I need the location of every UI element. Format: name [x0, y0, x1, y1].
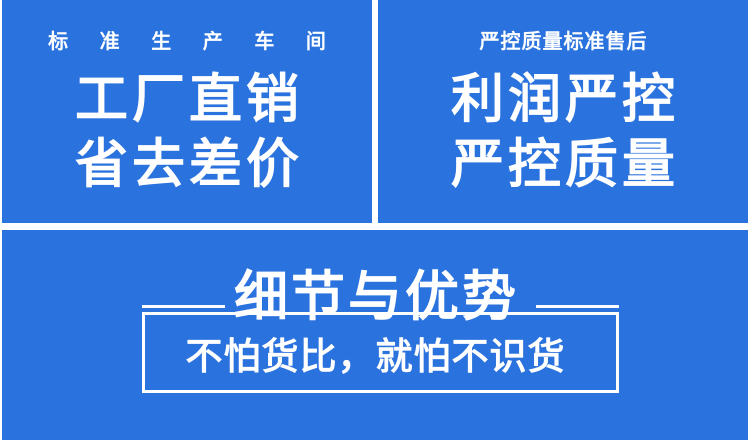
- factory-direct-eyebrow: 标 准 生 产 车 间: [35, 32, 339, 52]
- details-title: 细节与优势: [2, 270, 748, 324]
- quality-control-headline-line1: 利润严控: [447, 70, 679, 129]
- panel-quality-control: 严控质量标准售后 利润严控 严控质量: [378, 0, 748, 223]
- panel-details-advantages-content: 细节与优势 不怕货比，就怕不识货: [2, 230, 748, 440]
- promo-banner: 标 准 生 产 车 间 工厂直销 省去差价 严控质量标准售后 利润严控 严控质量…: [0, 0, 750, 440]
- panel-factory-direct-content: 标 准 生 产 车 间 工厂直销 省去差价: [2, 0, 372, 223]
- factory-direct-headline-line2: 省去差价: [71, 135, 303, 194]
- factory-direct-headline-line1: 工厂直销: [71, 70, 303, 129]
- panel-factory-direct: 标 准 生 产 车 间 工厂直销 省去差价: [2, 0, 372, 223]
- quality-control-eyebrow: 严控质量标准售后: [479, 32, 648, 52]
- panel-quality-control-content: 严控质量标准售后 利润严控 严控质量: [378, 0, 748, 223]
- panel-details-advantages: 细节与优势 不怕货比，就怕不识货: [2, 230, 748, 440]
- details-subtitle: 不怕货比，就怕不识货: [2, 338, 748, 375]
- quality-control-headline-line2: 严控质量: [447, 135, 679, 194]
